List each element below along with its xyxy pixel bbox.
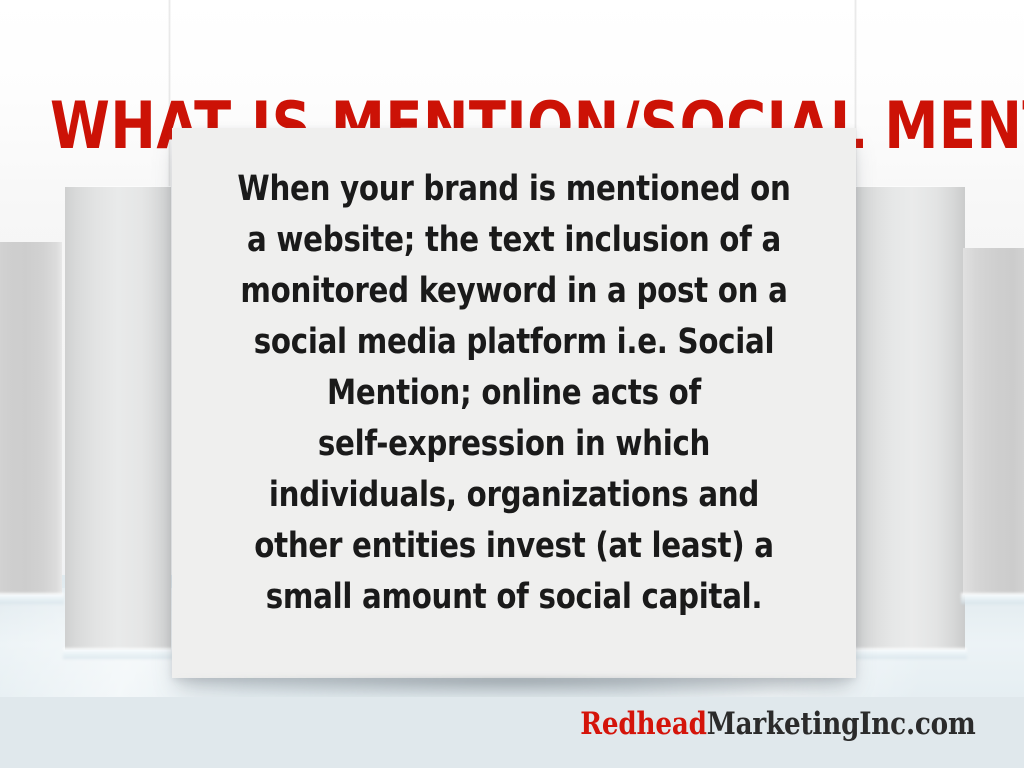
panel-base-highlight: [961, 593, 1024, 604]
inner-left-panel: [65, 186, 171, 650]
panel-face: [855, 186, 965, 650]
definition-body-text: When your brand is mentioned on a websit…: [224, 164, 804, 623]
panel-face: [65, 186, 171, 650]
panel-base-highlight: [63, 648, 173, 659]
brand-name-secondary: MarketingInc.com: [707, 706, 976, 742]
panel-base-highlight: [0, 593, 64, 604]
panel-face: [963, 248, 1024, 595]
far-right-panel: [963, 248, 1024, 595]
panel-face: [0, 242, 62, 595]
panel-base-highlight: [853, 648, 967, 659]
slide-canvas: WHAT IS MENTION/SOCIAL MENTION? When you…: [0, 0, 1024, 768]
inner-right-panel: [855, 186, 965, 650]
content-card: When your brand is mentioned on a websit…: [172, 128, 856, 678]
brand-wordmark: RedheadMarketingInc.com: [581, 706, 976, 742]
brand-name-primary: Redhead: [581, 706, 708, 742]
far-left-panel: [0, 242, 62, 595]
